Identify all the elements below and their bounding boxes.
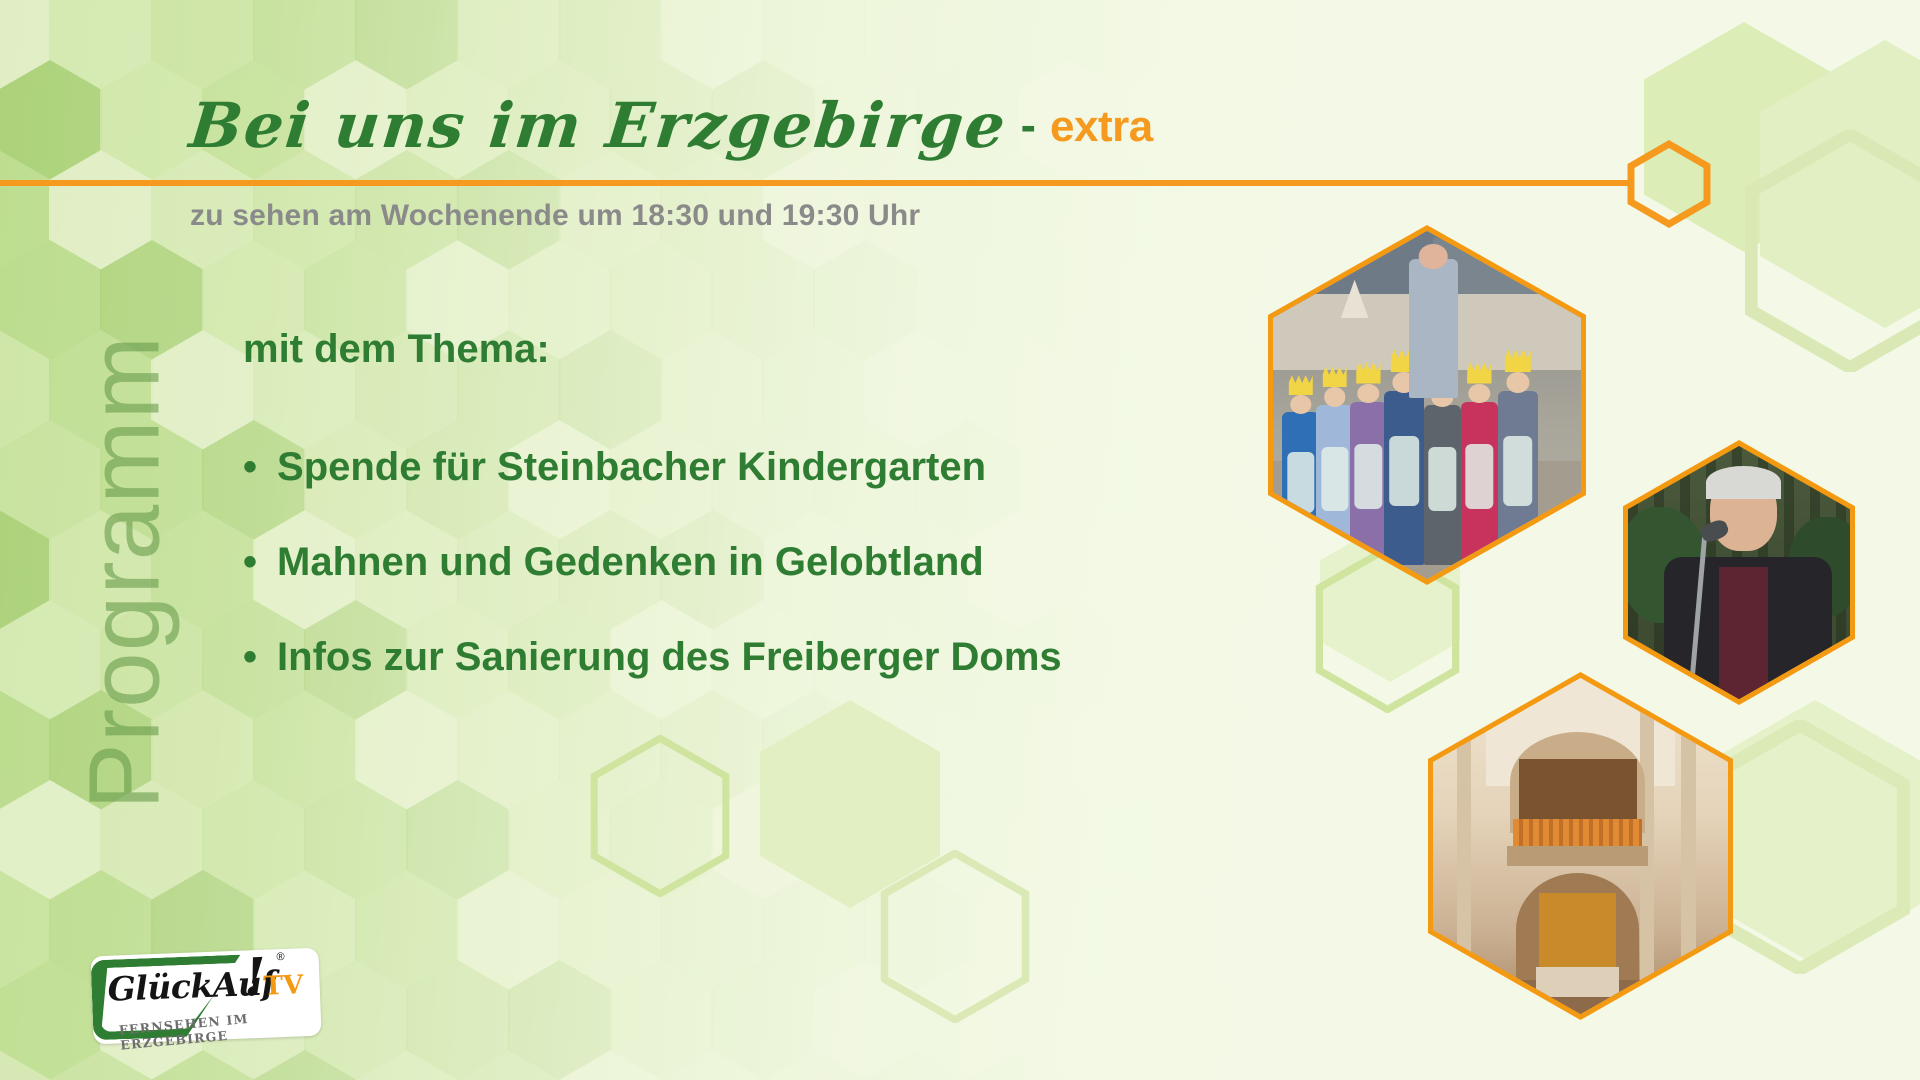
logo-tv-mark: TV bbox=[263, 970, 304, 1001]
decorative-hexagon-filled-5 bbox=[1700, 700, 1920, 965]
speaker-at-microphone-photo bbox=[1623, 440, 1855, 705]
list-item: • Infos zur Sanierung des Freiberger Dom… bbox=[243, 635, 1062, 680]
list-item: • Mahnen und Gedenken in Gelobtland bbox=[243, 540, 1062, 585]
decorative-hexagon-outline-1 bbox=[590, 735, 730, 897]
decorative-hexagon-outline-4 bbox=[1745, 130, 1920, 372]
topic-label: Mahnen und Gedenken in Gelobtland bbox=[277, 540, 984, 585]
photo-scene-cathedral bbox=[1433, 678, 1728, 1014]
orange-hexagon-endcap-icon bbox=[1624, 140, 1714, 228]
kindergarten-children-photo bbox=[1268, 225, 1586, 585]
show-title-dash: - bbox=[1007, 98, 1050, 152]
topics-intro-label: mit dem Thema: bbox=[243, 327, 550, 372]
bullet-icon: • bbox=[243, 447, 257, 487]
show-title-extra: extra bbox=[1050, 102, 1153, 152]
logo-registered-icon: ® bbox=[276, 951, 285, 963]
show-title: Bei uns im Erzgebirge - extra bbox=[190, 95, 1153, 158]
hexagon-photo-clip bbox=[1433, 678, 1728, 1014]
topic-label: Spende für Steinbacher Kindergarten bbox=[277, 445, 986, 490]
freiberger-dom-interior-photo bbox=[1428, 672, 1733, 1020]
photo-scene-kindergarten bbox=[1273, 231, 1581, 579]
bullet-icon: • bbox=[243, 542, 257, 582]
broadcast-program-slide: Programm Bei uns im Erzgebirge - extra z… bbox=[0, 0, 1920, 1080]
hexagon-photo-clip bbox=[1628, 446, 1850, 699]
orange-divider-rule bbox=[0, 180, 1633, 186]
decorative-hexagon-outline-2 bbox=[880, 850, 1030, 1023]
photo-scene-speaker bbox=[1628, 446, 1850, 699]
decorative-hexagon-filled-3 bbox=[760, 700, 940, 908]
show-title-main: Bei uns im Erzgebirge bbox=[187, 95, 1010, 157]
topic-label: Infos zur Sanierung des Freiberger Doms bbox=[277, 635, 1062, 680]
section-label-programm: Programm bbox=[68, 223, 183, 923]
list-item: • Spende für Steinbacher Kindergarten bbox=[243, 445, 1062, 490]
decorative-hexagon-filled-2 bbox=[1760, 40, 1920, 328]
hexagon-photo-clip bbox=[1273, 231, 1581, 579]
broadcast-times-subtitle: zu sehen am Wochenende um 18:30 und 19:3… bbox=[190, 199, 920, 233]
bullet-icon: • bbox=[243, 637, 257, 677]
glueckauf-tv-logo: GlückAuf ! ® TV FERNSEHEN IM ERZGEBIRGE bbox=[90, 948, 321, 1045]
topics-list: • Spende für Steinbacher Kindergarten • … bbox=[243, 445, 1062, 730]
